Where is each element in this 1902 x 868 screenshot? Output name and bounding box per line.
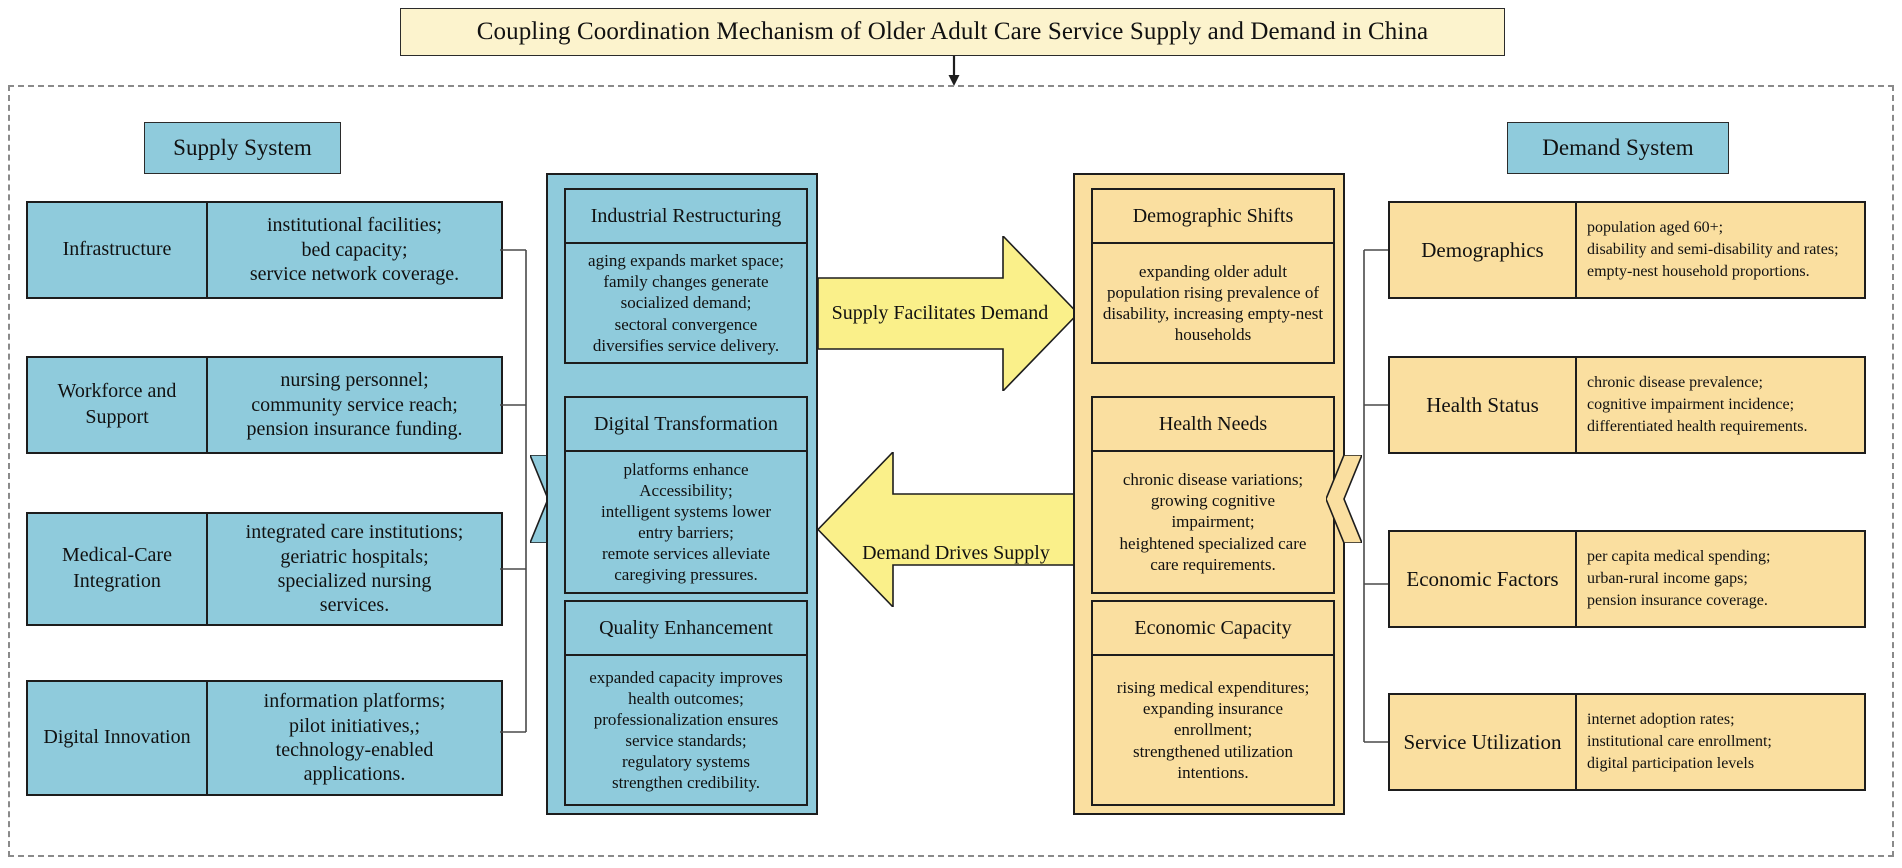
diagram-title-text: Coupling Coordination Mechanism of Older…	[477, 18, 1429, 46]
supply-card-digital-transformation: Digital Transformation platforms enhance…	[564, 396, 808, 594]
demand-row-line: urban-rural income gaps;	[1587, 568, 1854, 590]
supply-card-line: diversifies service delivery.	[593, 335, 779, 356]
supply-row-value: institutional facilities; bed capacity; …	[208, 203, 501, 297]
supply-row-value: information platforms; pilot initiatives…	[208, 682, 501, 794]
demand-row-value: per capita medical spending; urban-rural…	[1577, 532, 1864, 626]
supply-row-digital-innovation: Digital Innovation information platforms…	[26, 680, 503, 796]
supply-card-body: platforms enhance Accessibility; intelli…	[566, 452, 806, 592]
demand-card-line: care requirements.	[1150, 554, 1276, 575]
supply-row-line: applications.	[304, 762, 406, 786]
supply-row-key: Digital Innovation	[28, 682, 208, 794]
demand-row-line: empty-nest household proportions.	[1587, 261, 1854, 283]
demand-row-line: chronic disease prevalence;	[1587, 372, 1854, 394]
supply-row-line: specialized nursing	[278, 569, 432, 593]
supply-card-title: Quality Enhancement	[566, 602, 806, 656]
demand-row-line: institutional care enrollment;	[1587, 731, 1854, 753]
supply-row-line: bed capacity;	[301, 238, 407, 262]
demand-card-line: strengthened utilization	[1133, 741, 1293, 762]
supply-row-key: Medical-Care Integration	[28, 514, 208, 624]
demand-row-line: cognitive impairment incidence;	[1587, 394, 1854, 416]
demand-row-line: pension insurance coverage.	[1587, 590, 1854, 612]
supply-row-infrastructure: Infrastructure institutional facilities;…	[26, 201, 503, 299]
supply-card-line: socialized demand;	[621, 292, 752, 313]
demand-card-body: chronic disease variations; growing cogn…	[1093, 452, 1333, 592]
demand-bracket-connector	[1340, 246, 1390, 756]
demand-card-line: expanding older adult	[1139, 261, 1287, 282]
supply-row-line: technology-enabled	[276, 738, 434, 762]
supply-row-line: geriatric hospitals;	[280, 545, 428, 569]
demand-card-title: Health Needs	[1093, 398, 1333, 452]
supply-mechanism-panel: Industrial Restructuring aging expands m…	[546, 173, 818, 815]
supply-row-line: pilot initiatives,;	[289, 714, 420, 738]
demand-row-key: Service Utilization	[1390, 695, 1577, 789]
supply-row-key: Workforce and Support	[28, 358, 208, 452]
supply-row-workforce-and-support: Workforce and Support nursing personnel;…	[26, 356, 503, 454]
supply-card-line: professionalization ensures	[594, 709, 779, 730]
supply-card-line: family changes generate	[603, 271, 768, 292]
supply-row-line: services.	[320, 593, 389, 617]
supply-card-line: sectoral convergence	[615, 314, 758, 335]
supply-row-value: nursing personnel; community service rea…	[208, 358, 501, 452]
supply-row-line: community service reach;	[251, 393, 458, 417]
supply-card-industrial-restructuring: Industrial Restructuring aging expands m…	[564, 188, 808, 364]
supply-card-quality-enhancement: Quality Enhancement expanded capacity im…	[564, 600, 808, 806]
supply-card-line: strengthen credibility.	[612, 772, 760, 793]
supply-card-line: remote services alleviate	[602, 543, 770, 564]
supply-row-line: information platforms;	[264, 689, 446, 713]
supply-card-line: health outcomes;	[628, 688, 744, 709]
demand-row-line: population aged 60+;	[1587, 217, 1854, 239]
supply-card-line: expanded capacity improves	[589, 667, 783, 688]
demand-row-key: Health Status	[1390, 358, 1577, 452]
supply-row-line: pension insurance funding.	[246, 417, 462, 441]
supply-card-line: regulatory systems	[622, 751, 750, 772]
demand-card-demographic-shifts: Demographic Shifts expanding older adult…	[1091, 188, 1335, 364]
supply-row-medical-care-integration: Medical-Care Integration integrated care…	[26, 512, 503, 626]
supply-card-title: Digital Transformation	[566, 398, 806, 452]
supply-card-line: intelligent systems lower	[601, 501, 771, 522]
supply-facilitates-demand-label: Supply Facilitates Demand	[818, 300, 1062, 326]
demand-card-economic-capacity: Economic Capacity rising medical expendi…	[1091, 600, 1335, 806]
demand-card-body: rising medical expenditures; expanding i…	[1093, 656, 1333, 804]
demand-card-title: Economic Capacity	[1093, 602, 1333, 656]
demand-card-line: intentions.	[1177, 762, 1248, 783]
demand-row-line: internet adoption rates;	[1587, 709, 1854, 731]
demand-card-line: households	[1175, 324, 1252, 345]
supply-card-line: entry barriers;	[638, 522, 734, 543]
demand-card-line: disability, increasing empty-nest	[1103, 303, 1323, 324]
demand-system-header-label: Demand System	[1542, 135, 1693, 161]
demand-drives-supply-label: Demand Drives Supply	[834, 540, 1078, 566]
demand-row-line: per capita medical spending;	[1587, 546, 1854, 568]
demand-row-value: population aged 60+; disability and semi…	[1577, 203, 1864, 297]
supply-card-line: Accessibility;	[639, 480, 732, 501]
supply-row-key: Infrastructure	[28, 203, 208, 297]
supply-card-body: aging expands market space; family chang…	[566, 244, 806, 362]
supply-card-line: caregiving pressures.	[614, 564, 758, 585]
demand-card-line: rising medical expenditures;	[1117, 677, 1310, 698]
supply-row-line: service network coverage.	[250, 262, 459, 286]
demand-card-line: population rising prevalence of	[1107, 282, 1319, 303]
demand-row-economic-factors: Economic Factors per capita medical spen…	[1388, 530, 1866, 628]
demand-row-value: chronic disease prevalence; cognitive im…	[1577, 358, 1864, 452]
demand-row-key: Demographics	[1390, 203, 1577, 297]
demand-card-line: growing cognitive	[1151, 490, 1275, 511]
supply-row-value: integrated care institutions; geriatric …	[208, 514, 501, 624]
supply-system-header-label: Supply System	[173, 135, 312, 161]
demand-card-health-needs: Health Needs chronic disease variations;…	[1091, 396, 1335, 594]
supply-card-line: aging expands market space;	[588, 250, 784, 271]
supply-row-line: integrated care institutions;	[246, 520, 464, 544]
demand-row-demographics: Demographics population aged 60+; disabi…	[1388, 201, 1866, 299]
supply-row-line: nursing personnel;	[280, 368, 428, 392]
demand-row-line: differentiated health requirements.	[1587, 416, 1854, 438]
title-to-frame-arrow-icon	[947, 56, 961, 86]
demand-card-body: expanding older adult population rising …	[1093, 244, 1333, 362]
supply-system-header: Supply System	[144, 122, 341, 174]
supply-card-line: platforms enhance	[623, 459, 748, 480]
demand-card-line: chronic disease variations;	[1123, 469, 1303, 490]
demand-card-line: enrollment;	[1174, 719, 1252, 740]
demand-row-service-utilization: Service Utilization internet adoption ra…	[1388, 693, 1866, 791]
demand-card-line: impairment;	[1171, 511, 1254, 532]
demand-card-line: expanding insurance	[1143, 698, 1283, 719]
supply-card-title: Industrial Restructuring	[566, 190, 806, 244]
supply-card-body: expanded capacity improves health outcom…	[566, 656, 806, 804]
demand-row-health-status: Health Status chronic disease prevalence…	[1388, 356, 1866, 454]
supply-row-line: institutional facilities;	[267, 213, 442, 237]
demand-row-value: internet adoption rates; institutional c…	[1577, 695, 1864, 789]
demand-mechanism-panel: Demographic Shifts expanding older adult…	[1073, 173, 1345, 815]
demand-row-line: disability and semi-disability and rates…	[1587, 239, 1854, 261]
demand-card-line: heightened specialized care	[1120, 533, 1307, 554]
diagram-title: Coupling Coordination Mechanism of Older…	[400, 8, 1505, 56]
demand-system-header: Demand System	[1507, 122, 1729, 174]
demand-drives-supply-arrow-icon	[818, 452, 1078, 607]
demand-row-key: Economic Factors	[1390, 532, 1577, 626]
demand-card-title: Demographic Shifts	[1093, 190, 1333, 244]
supply-card-line: service standards;	[625, 730, 746, 751]
demand-row-line: digital participation levels	[1587, 753, 1854, 775]
